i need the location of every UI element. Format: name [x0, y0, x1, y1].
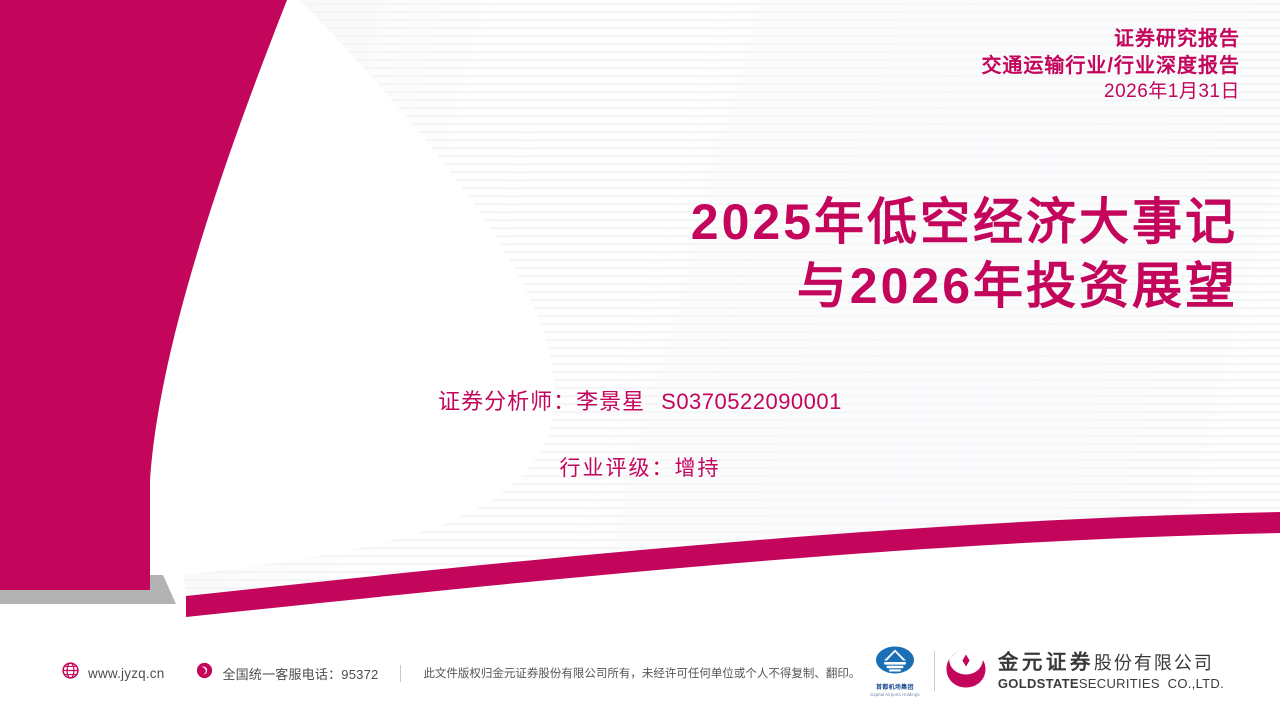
footer-divider	[400, 665, 401, 682]
analyst-label: 证券分析师：	[438, 389, 576, 414]
phone-icon	[196, 662, 213, 684]
logo-divider	[934, 651, 935, 691]
report-date: 2026年1月31日	[981, 79, 1240, 104]
website-label[interactable]: www.jyzq.cn	[88, 666, 164, 681]
copyright-notice: 此文件版权归金元证券股份有限公司所有，未经许可任何单位或个人不得复制、翻印。	[423, 665, 860, 681]
analyst-name: 李景星	[576, 389, 645, 414]
goldstate-en-light: SECURITIES	[1079, 676, 1160, 691]
logo-cluster: 首都机场集团 Capital Airports Holdings 金元证券股份有…	[866, 646, 1224, 697]
cover-header: 证券研究报告 交通运输行业/行业深度报告 2026年1月31日	[981, 26, 1240, 104]
goldstate-en-bold: GOLDSTATE	[998, 676, 1079, 691]
analyst-license: S0370522090001	[661, 389, 842, 414]
goldstate-name-cn: 金元证券股份有限公司	[998, 651, 1224, 675]
analyst-line: 证券分析师：李景星S0370522090001	[0, 384, 1280, 416]
industry-report-label: 交通运输行业/行业深度报告	[981, 53, 1240, 80]
capital-airports-logo: 首都机场集团 Capital Airports Holdings	[866, 646, 924, 697]
report-type-label: 证券研究报告	[981, 26, 1240, 53]
globe-icon	[62, 662, 79, 684]
goldstate-wordmark: 金元证券股份有限公司 GOLDSTATESECURITIES CO.,LTD.	[998, 651, 1224, 691]
report-cover-page: 证券研究报告 交通运输行业/行业深度报告 2026年1月31日 2025年低空经…	[0, 0, 1280, 720]
industry-rating: 行业评级：增持	[0, 452, 1280, 482]
page-title: 2025年低空经济大事记 与2026年投资展望	[691, 190, 1238, 318]
service-phone-label: 全国统一客服电话：95372	[222, 664, 378, 683]
goldstate-name-en: GOLDSTATESECURITIES CO.,LTD.	[998, 676, 1224, 692]
capital-airports-name-en: Capital Airports Holdings	[870, 692, 920, 697]
title-line-2: 与2026年投资展望	[691, 254, 1238, 318]
goldstate-en-suffix: CO.,LTD.	[1168, 676, 1224, 691]
capital-airports-icon	[873, 646, 917, 681]
cover-footer: www.jyzq.cn 全国统一客服电话：95372 此文件版权归金元证券股份有…	[0, 636, 1280, 720]
title-line-1: 2025年低空经济大事记	[691, 190, 1238, 254]
capital-airports-name-cn: 首都机场集团	[876, 682, 914, 691]
goldstate-crescent-icon	[945, 649, 987, 694]
goldstate-suffix-cn: 股份有限公司	[1094, 653, 1214, 673]
footer-info-group: www.jyzq.cn 全国统一客服电话：95372 此文件版权归金元证券股份有…	[62, 662, 860, 684]
goldstate-brand-cn: 金元证券	[998, 651, 1094, 674]
background-artwork	[0, 0, 1280, 720]
